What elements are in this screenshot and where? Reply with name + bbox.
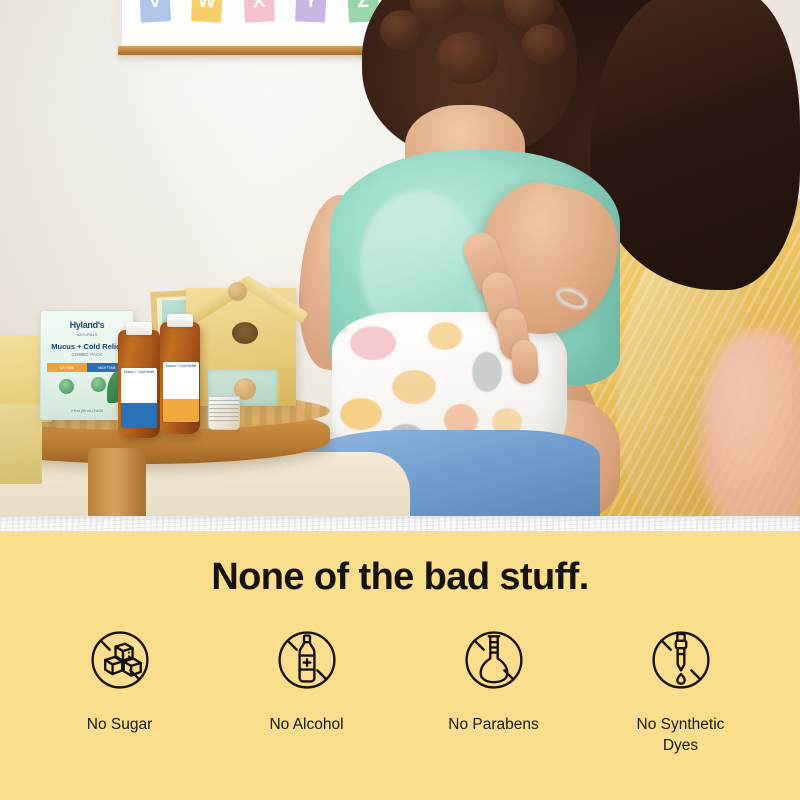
lifestyle-photo: VWXYZ <box>0 0 800 519</box>
diaper-print-motif <box>472 352 502 392</box>
diaper-print-motif <box>428 322 462 350</box>
claims-panel: None of the bad stuff. <box>0 531 800 800</box>
diaper-print-motif <box>340 398 382 430</box>
product-illustration-left <box>59 379 74 394</box>
dosing-cup <box>208 396 240 430</box>
toy-house-roof-knob <box>228 282 247 301</box>
feature-no-parabens: No Parabens <box>414 623 574 736</box>
product-illustration-right <box>91 377 106 392</box>
diaper-print-motif <box>392 370 436 404</box>
product-bar-daytime: DAYTIME <box>47 363 87 372</box>
no-alcohol-icon <box>270 623 344 697</box>
bottle-cap-nighttime <box>167 314 193 327</box>
diaper-print-motif <box>350 326 396 360</box>
feature-no-sugar: No Sugar <box>40 623 200 736</box>
feature-list: No Sugar No A <box>0 623 800 757</box>
poster-letter: X <box>243 0 275 23</box>
textured-divider <box>0 516 800 531</box>
product-bottle-daytime: Mucus + Cold Relief <box>118 330 160 438</box>
bottle-label-daytime: Mucus + Cold Relief <box>121 368 157 428</box>
product-brand: Hyland's <box>41 320 133 330</box>
feature-label-no-parabens: No Parabens <box>448 715 538 736</box>
yellow-book-left-lower <box>0 404 42 484</box>
bottle-cap-daytime <box>126 322 152 335</box>
product-bottle-nighttime: Mucus + Cold Relief <box>160 322 200 434</box>
bottle-label-nighttime: Mucus + Cold Relief <box>163 362 199 422</box>
panel-headline: None of the bad stuff. <box>0 556 800 599</box>
feature-label-line: Dyes <box>663 737 698 754</box>
feature-no-alcohol: No Alcohol <box>227 623 387 736</box>
table-pedestal <box>88 448 146 519</box>
feature-label-line: No Synthetic <box>637 716 725 733</box>
feature-label-no-synthetic-dyes: No SyntheticDyes <box>637 715 725 757</box>
marketing-image: VWXYZ <box>0 0 800 800</box>
poster-letter: Y <box>295 0 327 23</box>
poster-letter: W <box>191 0 223 23</box>
toy-house-hole <box>232 322 258 344</box>
no-synthetic-dyes-icon <box>644 623 718 697</box>
feature-no-synthetic-dyes: No SyntheticDyes <box>601 623 761 757</box>
feature-label-no-alcohol: No Alcohol <box>269 715 343 736</box>
no-sugar-icon <box>83 623 157 697</box>
no-parabens-icon <box>457 623 531 697</box>
feature-label-no-sugar: No Sugar <box>87 715 152 736</box>
poster-letter: V <box>139 0 171 23</box>
